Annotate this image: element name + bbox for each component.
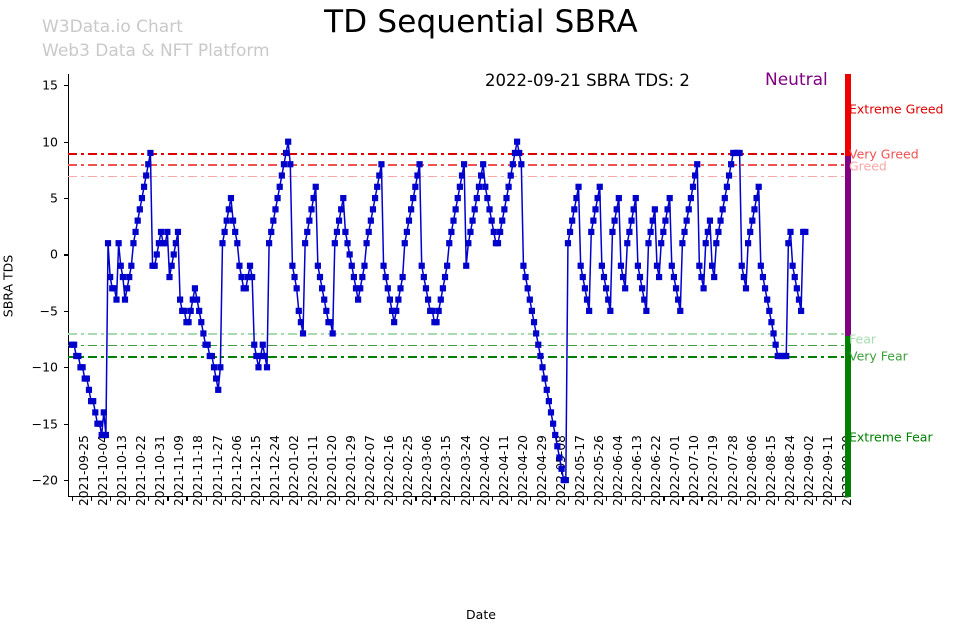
data-point-marker: [650, 218, 656, 224]
data-point-marker: [308, 206, 314, 212]
data-point-marker: [355, 297, 361, 303]
data-point-marker: [385, 285, 391, 291]
data-point-marker: [300, 330, 306, 336]
data-point-marker: [147, 150, 153, 156]
data-point-marker: [304, 229, 310, 235]
data-point-marker: [419, 263, 425, 269]
data-point-marker: [266, 240, 272, 246]
data-point-marker: [169, 263, 175, 269]
data-point-marker: [181, 308, 187, 314]
data-point-marker: [533, 330, 539, 336]
data-point-marker: [444, 263, 450, 269]
data-point-marker: [747, 229, 753, 235]
data-point-marker: [703, 240, 709, 246]
data-point-marker: [497, 229, 503, 235]
data-point-marker: [614, 206, 620, 212]
data-point-marker: [410, 195, 416, 201]
data-point-marker: [213, 375, 219, 381]
data-point-marker: [391, 319, 397, 325]
data-point-marker: [539, 364, 545, 370]
data-point-marker: [351, 274, 357, 280]
plot-area: −20−15−10−5051015 2021-09-252021-10-0420…: [68, 74, 843, 497]
data-point-marker: [171, 251, 177, 257]
data-point-marker: [660, 229, 666, 235]
data-point-marker: [321, 297, 327, 303]
data-point-marker: [364, 240, 370, 246]
data-point-marker: [605, 297, 611, 303]
data-point-marker: [71, 342, 77, 348]
data-point-marker: [474, 195, 480, 201]
sentiment-segment: [845, 156, 851, 335]
data-point-marker: [323, 308, 329, 314]
data-point-marker: [249, 274, 255, 280]
data-point-marker: [707, 218, 713, 224]
data-point-marker: [397, 285, 403, 291]
data-point-marker: [370, 206, 376, 212]
data-point-marker: [101, 409, 107, 415]
data-point-marker: [785, 240, 791, 246]
data-point-marker: [336, 218, 342, 224]
data-point-marker: [595, 195, 601, 201]
data-point-marker: [111, 285, 117, 291]
data-point-marker: [626, 229, 632, 235]
data-point-marker: [499, 218, 505, 224]
data-point-marker: [756, 184, 762, 190]
data-point-marker: [580, 274, 586, 280]
data-point-marker: [247, 263, 253, 269]
data-point-marker: [177, 297, 183, 303]
data-point-marker: [656, 274, 662, 280]
data-point-marker: [546, 398, 552, 404]
y-tick-label: −15: [14, 416, 58, 431]
data-point-marker: [222, 229, 228, 235]
data-point-marker: [552, 432, 558, 438]
data-point-marker: [489, 218, 495, 224]
data-point-marker: [330, 330, 336, 336]
data-point-marker: [395, 297, 401, 303]
data-point-marker: [429, 308, 435, 314]
data-point-marker: [289, 263, 295, 269]
data-point-marker: [726, 172, 732, 178]
data-point-marker: [508, 172, 514, 178]
data-point-marker: [609, 229, 615, 235]
data-point-marker: [527, 297, 533, 303]
data-point-marker: [287, 161, 293, 167]
data-point-marker: [669, 263, 675, 269]
data-point-marker: [565, 240, 571, 246]
data-point-marker: [558, 466, 564, 472]
data-point-marker: [291, 274, 297, 280]
data-point-marker: [296, 308, 302, 314]
watermark: W3Data.io Chart Web3 Data & NFT Platform: [42, 15, 270, 63]
data-point-marker: [162, 240, 168, 246]
data-point-marker: [622, 285, 628, 291]
data-point-marker: [624, 240, 630, 246]
data-point-marker: [416, 161, 422, 167]
data-point-marker: [141, 184, 147, 190]
data-point-marker: [715, 229, 721, 235]
data-point-marker: [383, 274, 389, 280]
data-point-marker: [294, 285, 300, 291]
data-point-marker: [453, 206, 459, 212]
data-point-marker: [724, 184, 730, 190]
watermark-line-2: Web3 Data & NFT Platform: [42, 39, 270, 63]
data-point-marker: [518, 161, 524, 167]
y-tick-label: 15: [14, 78, 58, 93]
data-point-marker: [128, 263, 134, 269]
data-point-marker: [476, 184, 482, 190]
data-point-marker: [224, 218, 230, 224]
data-point-marker: [274, 195, 280, 201]
data-point-marker: [103, 432, 109, 438]
data-point-marker: [402, 240, 408, 246]
data-point-marker: [236, 263, 242, 269]
data-point-marker: [105, 240, 111, 246]
data-point-marker: [542, 375, 548, 381]
data-point-marker: [709, 263, 715, 269]
data-point-marker: [268, 229, 274, 235]
data-point-marker: [641, 297, 647, 303]
data-point-marker: [272, 206, 278, 212]
data-point-marker: [92, 409, 98, 415]
data-point-marker: [753, 195, 759, 201]
data-point-marker: [361, 263, 367, 269]
data-point-marker: [773, 342, 779, 348]
data-point-marker: [230, 218, 236, 224]
data-point-marker: [484, 195, 490, 201]
data-point-marker: [705, 229, 711, 235]
data-point-marker: [711, 274, 717, 280]
data-point-marker: [603, 285, 609, 291]
data-point-marker: [679, 240, 685, 246]
data-point-marker: [84, 375, 90, 381]
data-point-marker: [143, 172, 149, 178]
data-point-marker: [436, 308, 442, 314]
data-point-marker: [327, 319, 333, 325]
data-point-marker: [584, 297, 590, 303]
data-point-marker: [349, 263, 355, 269]
data-point-marker: [457, 184, 463, 190]
data-point-marker: [482, 184, 488, 190]
data-point-marker: [357, 285, 363, 291]
data-point-marker: [433, 319, 439, 325]
data-point-marker: [673, 285, 679, 291]
data-point-marker: [332, 240, 338, 246]
data-point-marker: [232, 229, 238, 235]
data-point-marker: [166, 274, 172, 280]
data-point-marker: [448, 229, 454, 235]
data-point-marker: [406, 218, 412, 224]
data-point-marker: [359, 274, 365, 280]
data-point-marker: [550, 421, 556, 427]
data-point-marker: [344, 240, 350, 246]
data-point-marker: [315, 263, 321, 269]
data-point-marker: [400, 274, 406, 280]
data-point-marker: [690, 184, 696, 190]
data-point-marker: [376, 172, 382, 178]
data-point-marker: [279, 172, 285, 178]
threshold-label: Very Fear: [849, 349, 908, 364]
data-point-marker: [342, 229, 348, 235]
y-tick-label: −20: [14, 473, 58, 488]
data-point-marker: [404, 229, 410, 235]
data-point-marker: [525, 285, 531, 291]
data-point-marker: [737, 150, 743, 156]
data-point-marker: [684, 218, 690, 224]
data-point-marker: [338, 206, 344, 212]
data-point-marker: [158, 229, 164, 235]
data-point-marker: [173, 240, 179, 246]
data-point-marker: [234, 240, 240, 246]
data-point-marker: [486, 206, 492, 212]
data-point-marker: [122, 297, 128, 303]
data-point-marker: [741, 274, 747, 280]
data-point-marker: [126, 274, 132, 280]
data-point-marker: [662, 218, 668, 224]
data-point-marker: [311, 195, 317, 201]
data-point-marker: [185, 319, 191, 325]
data-point-marker: [132, 229, 138, 235]
data-point-marker: [387, 297, 393, 303]
data-point-marker: [688, 195, 694, 201]
data-point-marker: [694, 161, 700, 167]
data-point-marker: [188, 308, 194, 314]
data-point-marker: [510, 161, 516, 167]
data-point-marker: [728, 161, 734, 167]
data-point-marker: [116, 240, 122, 246]
data-point-marker: [652, 206, 658, 212]
data-point-marker: [366, 229, 372, 235]
threshold-label: Fear: [849, 332, 876, 347]
data-point-marker: [380, 263, 386, 269]
data-point-marker: [306, 218, 312, 224]
data-point-marker: [760, 274, 766, 280]
data-point-marker: [423, 285, 429, 291]
data-point-marker: [597, 184, 603, 190]
data-point-marker: [770, 330, 776, 336]
data-point-marker: [749, 218, 755, 224]
data-point-marker: [277, 184, 283, 190]
data-point-marker: [152, 263, 158, 269]
data-point-marker: [130, 240, 136, 246]
data-point-marker: [455, 195, 461, 201]
data-point-marker: [713, 240, 719, 246]
data-point-marker: [790, 263, 796, 269]
data-point-marker: [107, 274, 113, 280]
data-point-marker: [334, 229, 340, 235]
data-point-marker: [620, 274, 626, 280]
data-point-marker: [205, 342, 211, 348]
data-point-marker: [226, 206, 232, 212]
data-point-marker: [75, 353, 81, 359]
data-point-marker: [522, 274, 528, 280]
data-point-marker: [120, 274, 126, 280]
data-point-marker: [569, 218, 575, 224]
data-point-marker: [414, 172, 420, 178]
data-point-marker: [588, 229, 594, 235]
data-point-marker: [285, 139, 291, 145]
chart-page: TD Sequential SBRA W3Data.io Chart Web3 …: [0, 0, 962, 633]
data-point-marker: [374, 184, 380, 190]
data-point-marker: [442, 274, 448, 280]
data-point-marker: [599, 263, 605, 269]
data-point-marker: [664, 206, 670, 212]
data-point-marker: [270, 218, 276, 224]
data-point-marker: [571, 206, 577, 212]
data-point-marker: [440, 285, 446, 291]
data-point-marker: [758, 263, 764, 269]
data-point-marker: [298, 319, 304, 325]
data-point-marker: [438, 297, 444, 303]
data-point-marker: [412, 184, 418, 190]
data-point-marker: [139, 195, 145, 201]
data-point-marker: [535, 342, 541, 348]
data-point-marker: [607, 308, 613, 314]
data-point-marker: [262, 353, 268, 359]
data-point-marker: [520, 263, 526, 269]
data-point-marker: [137, 206, 143, 212]
data-point-marker: [463, 263, 469, 269]
data-point-marker: [787, 229, 793, 235]
data-point-marker: [255, 364, 261, 370]
data-point-marker: [472, 206, 478, 212]
data-point-marker: [582, 285, 588, 291]
data-point-marker: [238, 274, 244, 280]
data-point-marker: [681, 229, 687, 235]
data-point-marker: [260, 342, 266, 348]
data-point-marker: [700, 285, 706, 291]
data-point-marker: [654, 263, 660, 269]
data-point-marker: [164, 229, 170, 235]
data-point-marker: [783, 353, 789, 359]
data-point-marker: [317, 274, 323, 280]
data-point-marker: [548, 409, 554, 415]
data-point-marker: [751, 206, 757, 212]
data-point-marker: [243, 285, 249, 291]
data-point-marker: [340, 195, 346, 201]
data-point-marker: [516, 150, 522, 156]
data-point-marker: [228, 195, 234, 201]
data-point-marker: [573, 195, 579, 201]
data-point-marker: [671, 274, 677, 280]
data-point-marker: [124, 285, 130, 291]
data-point-marker: [637, 274, 643, 280]
data-point-marker: [113, 297, 119, 303]
data-point-marker: [601, 274, 607, 280]
data-point-marker: [209, 353, 215, 359]
data-point-marker: [319, 285, 325, 291]
data-point-marker: [313, 184, 319, 190]
data-point-marker: [408, 206, 414, 212]
data-point-marker: [575, 184, 581, 190]
data-point-marker: [465, 240, 471, 246]
data-point-marker: [200, 330, 206, 336]
data-point-marker: [639, 285, 645, 291]
data-point-marker: [677, 308, 683, 314]
data-point-marker: [506, 184, 512, 190]
data-point-marker: [578, 263, 584, 269]
data-point-marker: [544, 387, 550, 393]
data-point-marker: [616, 195, 622, 201]
data-point-marker: [145, 161, 151, 167]
data-point-marker: [635, 263, 641, 269]
data-point-marker: [556, 454, 562, 460]
data-point-marker: [531, 319, 537, 325]
data-point-marker: [478, 172, 484, 178]
watermark-line-1: W3Data.io Chart: [42, 15, 270, 39]
data-point-marker: [217, 364, 223, 370]
data-point-marker: [514, 139, 520, 145]
data-point-marker: [154, 251, 160, 257]
data-point-marker: [450, 218, 456, 224]
threshold-label: Greed: [849, 159, 887, 174]
y-tick-label: 5: [14, 191, 58, 206]
data-point-marker: [792, 274, 798, 280]
data-point-marker: [251, 342, 257, 348]
data-point-marker: [175, 229, 181, 235]
data-point-marker: [720, 206, 726, 212]
y-tick-label: −10: [14, 360, 58, 375]
data-point-marker: [192, 285, 198, 291]
data-point-marker: [529, 308, 535, 314]
data-point-marker: [421, 274, 427, 280]
threshold-label: Extreme Fear: [849, 430, 933, 445]
data-point-marker: [563, 477, 569, 483]
data-point-marker: [393, 308, 399, 314]
data-point-marker: [219, 240, 225, 246]
data-point-marker: [194, 297, 200, 303]
data-point-marker: [495, 240, 501, 246]
data-point-marker: [696, 263, 702, 269]
data-point-marker: [368, 218, 374, 224]
threshold-label: Extreme Greed: [849, 102, 943, 117]
data-point-marker: [211, 364, 217, 370]
data-point-marker: [618, 263, 624, 269]
data-point-marker: [196, 308, 202, 314]
data-point-marker: [537, 353, 543, 359]
data-point-marker: [503, 195, 509, 201]
data-point-marker: [302, 240, 308, 246]
data-point-marker: [554, 443, 560, 449]
data-point-marker: [198, 319, 204, 325]
data-point-marker: [118, 263, 124, 269]
data-point-marker: [480, 161, 486, 167]
data-point-marker: [425, 297, 431, 303]
data-point-marker: [80, 364, 86, 370]
y-tick-label: −5: [14, 303, 58, 318]
series-td-sequential: [68, 74, 853, 501]
data-point-marker: [648, 229, 654, 235]
data-point-marker: [692, 172, 698, 178]
data-point-marker: [446, 240, 452, 246]
data-point-marker: [717, 218, 723, 224]
data-point-marker: [762, 285, 768, 291]
data-point-marker: [592, 206, 598, 212]
data-point-marker: [372, 195, 378, 201]
data-point-marker: [658, 240, 664, 246]
data-point-marker: [745, 240, 751, 246]
data-point-marker: [86, 387, 92, 393]
data-point-marker: [798, 308, 804, 314]
data-point-marker: [491, 229, 497, 235]
y-tick-label: 0: [14, 247, 58, 262]
data-point-marker: [667, 195, 673, 201]
data-point-marker: [459, 172, 465, 178]
data-point-marker: [283, 150, 289, 156]
data-point-marker: [467, 229, 473, 235]
data-point-marker: [739, 263, 745, 269]
data-point-marker: [698, 274, 704, 280]
